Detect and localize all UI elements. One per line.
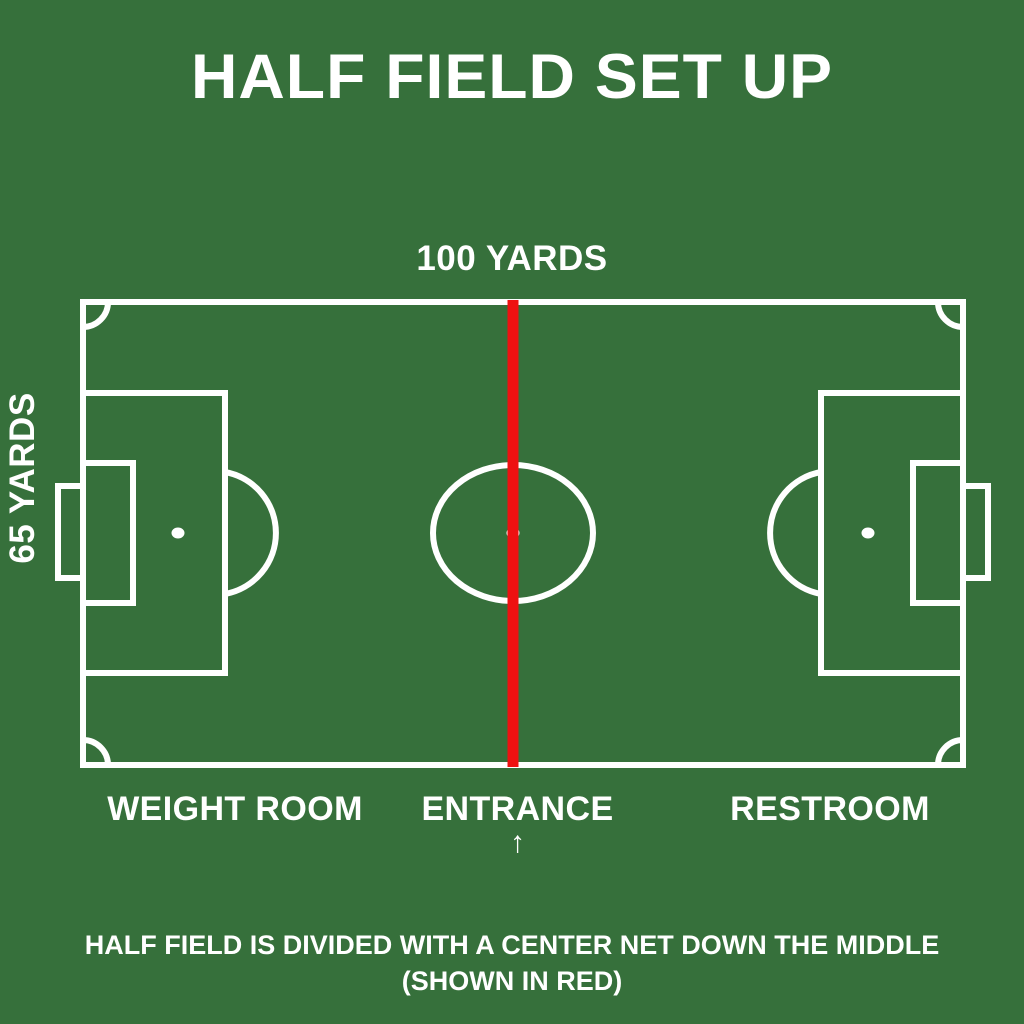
right-penalty-arc	[770, 472, 821, 594]
caption-line-2: (SHOWN IN RED)	[0, 964, 1024, 1000]
arrow-up-icon: ↑	[395, 828, 640, 858]
caption: HALF FIELD IS DIVIDED WITH A CENTER NET …	[0, 928, 1024, 1000]
zone-label-weight-room: WEIGHT ROOM	[60, 792, 410, 826]
left-penalty-area	[83, 393, 225, 673]
left-goal-area	[83, 463, 133, 603]
field-outline	[83, 302, 963, 765]
corner-arc-bottom-left	[83, 740, 108, 765]
left-goal-net	[58, 486, 83, 578]
right-penalty-area	[821, 393, 963, 673]
right-penalty-spot	[862, 528, 875, 539]
corner-arc-bottom-right	[938, 740, 963, 765]
zone-label-restroom: RESTROOM	[680, 792, 980, 826]
right-goal-area	[913, 463, 963, 603]
soccer-field-diagram	[0, 0, 1024, 1024]
zone-label-entrance: ENTRANCE	[395, 792, 640, 826]
corner-arc-top-left	[83, 302, 108, 327]
caption-line-1: HALF FIELD IS DIVIDED WITH A CENTER NET …	[85, 930, 939, 960]
left-penalty-arc	[225, 472, 276, 594]
right-goal-net	[963, 486, 988, 578]
poster-canvas: HALF FIELD SET UP 100 YARDS 65 YARDS	[0, 0, 1024, 1024]
left-penalty-spot	[172, 528, 185, 539]
corner-arc-top-right	[938, 302, 963, 327]
